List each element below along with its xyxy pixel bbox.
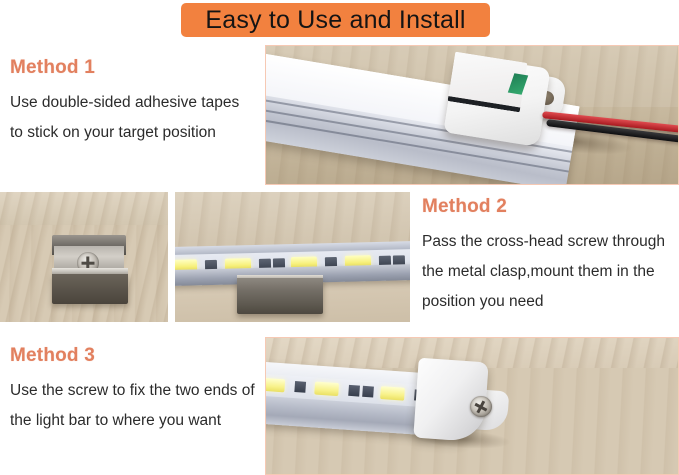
end-cap-screw-photo [265,337,679,475]
photo-content [266,46,678,184]
clasp-base [52,274,128,304]
resistor [362,386,374,398]
metal-clasp-closeup-photo [0,192,168,322]
photo-content [175,192,410,322]
title-banner: Easy to Use and Install [181,3,490,37]
page-title: Easy to Use and Install [205,6,465,35]
photo-content [266,338,678,474]
resistor [348,385,360,397]
photo-content [0,192,168,322]
cross-head-screw [470,396,492,417]
infographic-page: Easy to Use and Install Method 1 Use dou… [0,0,679,474]
led-strip-in-clasp-photo [175,192,410,322]
method-3-text-block: Method 3 Use the screw to fix the two en… [10,345,260,436]
method-1-heading: Method 1 [10,57,255,79]
led-chip [380,386,405,401]
led-chip [314,381,339,396]
method-3-body: Use the screw to fix the two ends of the… [10,376,260,436]
method-1-body: Use double-sided adhesive tapes to stick… [10,88,255,148]
metal-clasp [237,278,323,314]
method-1-text-block: Method 1 Use double-sided adhesive tapes… [10,57,255,148]
led-bar-with-adhesive-photo [265,45,679,185]
method-3-heading: Method 3 [10,345,260,367]
method-2-heading: Method 2 [422,196,674,218]
method-2-body: Pass the cross-head screw through the me… [422,227,674,317]
resistor [294,381,306,393]
wood-grain-texture [175,192,410,249]
method-2-text-block: Method 2 Pass the cross-head screw throu… [422,196,674,317]
led-chip [265,378,285,393]
